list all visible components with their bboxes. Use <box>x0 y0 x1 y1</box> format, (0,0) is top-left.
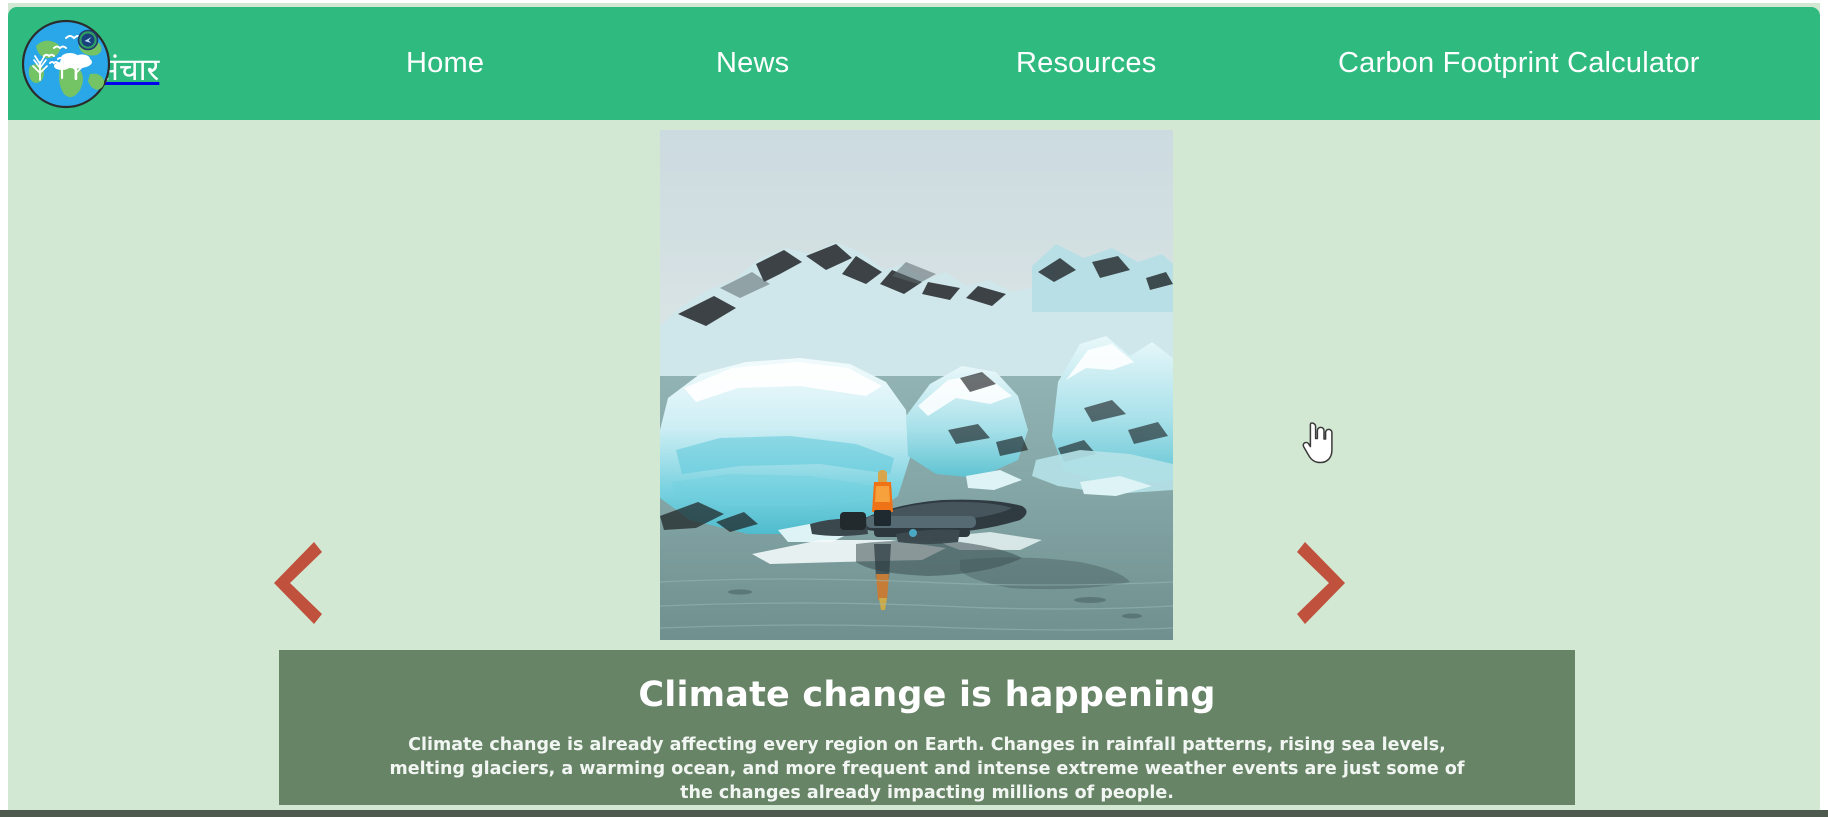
window-top-edge <box>0 0 1828 3</box>
carousel-prev-button[interactable] <box>253 530 343 635</box>
page-root: संचार Home News Resources Carbon Footpri… <box>0 0 1828 817</box>
carousel-next-button[interactable] <box>1276 530 1366 635</box>
carousel-caption-overlay: Climate change is happening Climate chan… <box>279 650 1575 805</box>
window-left-edge <box>0 0 8 817</box>
hero-carousel: Climate change is happening Climate chan… <box>8 120 1820 805</box>
top-navigation-bar: संचार Home News Resources Carbon Footpri… <box>8 7 1820 120</box>
carousel-caption-title: Climate change is happening <box>279 674 1575 716</box>
window-right-edge <box>1820 0 1828 817</box>
globe-earth-with-birds-and-trees-icon <box>20 18 112 110</box>
brand-logo-link[interactable]: संचार <box>20 12 159 116</box>
chevron-left-icon <box>268 538 328 628</box>
nav-link-resources[interactable]: Resources <box>1016 47 1156 80</box>
nav-links: Home News Resources Carbon Footprint Cal… <box>338 7 1760 120</box>
window-bottom-edge <box>0 810 1828 817</box>
nav-link-home[interactable]: Home <box>406 47 484 80</box>
nav-link-news[interactable]: News <box>716 47 789 80</box>
carousel-caption-body: Climate change is already affecting ever… <box>279 734 1575 806</box>
carousel-slide-image <box>660 130 1173 640</box>
chevron-right-icon <box>1291 538 1351 628</box>
nav-link-carbon-footprint-calculator[interactable]: Carbon Footprint Calculator <box>1338 47 1700 80</box>
